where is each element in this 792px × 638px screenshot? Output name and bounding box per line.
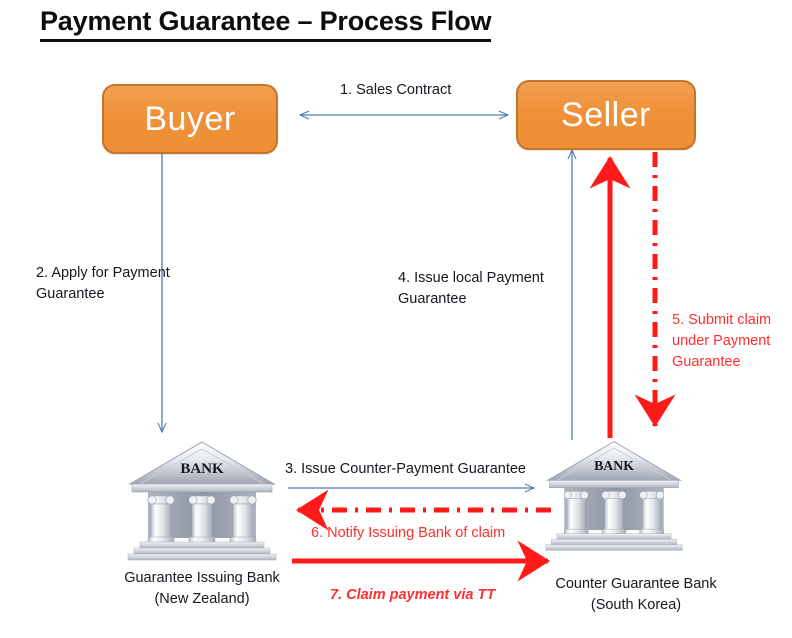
step-label-1: 1. Sales Contract: [340, 80, 451, 101]
bank-caption-counter: Counter Guarantee Bank (South Korea): [516, 574, 756, 616]
step-label-6: 6. Notify Issuing Bank of claim: [311, 523, 505, 544]
step-label-4: 4. Issue local Payment Guarantee: [398, 268, 588, 310]
bank-icon-counter-word: BANK: [594, 458, 634, 473]
step-label-5: 5. Submit claim under Payment Guarantee: [672, 310, 790, 373]
step-label-5-line2: under Payment: [672, 331, 790, 352]
diagram-canvas: Payment Guarantee – Process Flow: [0, 0, 792, 638]
step-label-4-line2: Guarantee: [398, 289, 588, 310]
node-seller-label: Seller: [561, 96, 651, 135]
bank-icon-issuing-word: BANK: [180, 461, 224, 477]
step-label-7: 7. Claim payment via TT: [330, 585, 495, 606]
bank-caption-counter-line1: Counter Guarantee Bank: [516, 574, 756, 595]
step-label-4-line1: 4. Issue local Payment: [398, 268, 588, 289]
bank-caption-issuing: Guarantee Issuing Bank (New Zealand): [86, 568, 318, 610]
step-label-2-line1: 2. Apply for Payment: [36, 263, 236, 284]
bank-icon-issuing[interactable]: BANK: [126, 440, 278, 562]
step-label-5-line1: 5. Submit claim: [672, 310, 790, 331]
step-label-2: 2. Apply for Payment Guarantee: [36, 263, 236, 305]
bank-caption-counter-line2: (South Korea): [516, 595, 756, 616]
bank-caption-issuing-line2: (New Zealand): [86, 589, 318, 610]
step-label-5-line3: Guarantee: [672, 352, 790, 373]
node-buyer-label: Buyer: [144, 100, 235, 139]
node-seller[interactable]: Seller: [516, 80, 696, 150]
bank-caption-issuing-line1: Guarantee Issuing Bank: [86, 568, 318, 589]
bank-icon-counter[interactable]: BANK: [544, 438, 684, 554]
step-label-3: 3. Issue Counter-Payment Guarantee: [285, 459, 526, 480]
node-buyer[interactable]: Buyer: [102, 84, 278, 154]
step-label-2-line2: Guarantee: [36, 284, 236, 305]
